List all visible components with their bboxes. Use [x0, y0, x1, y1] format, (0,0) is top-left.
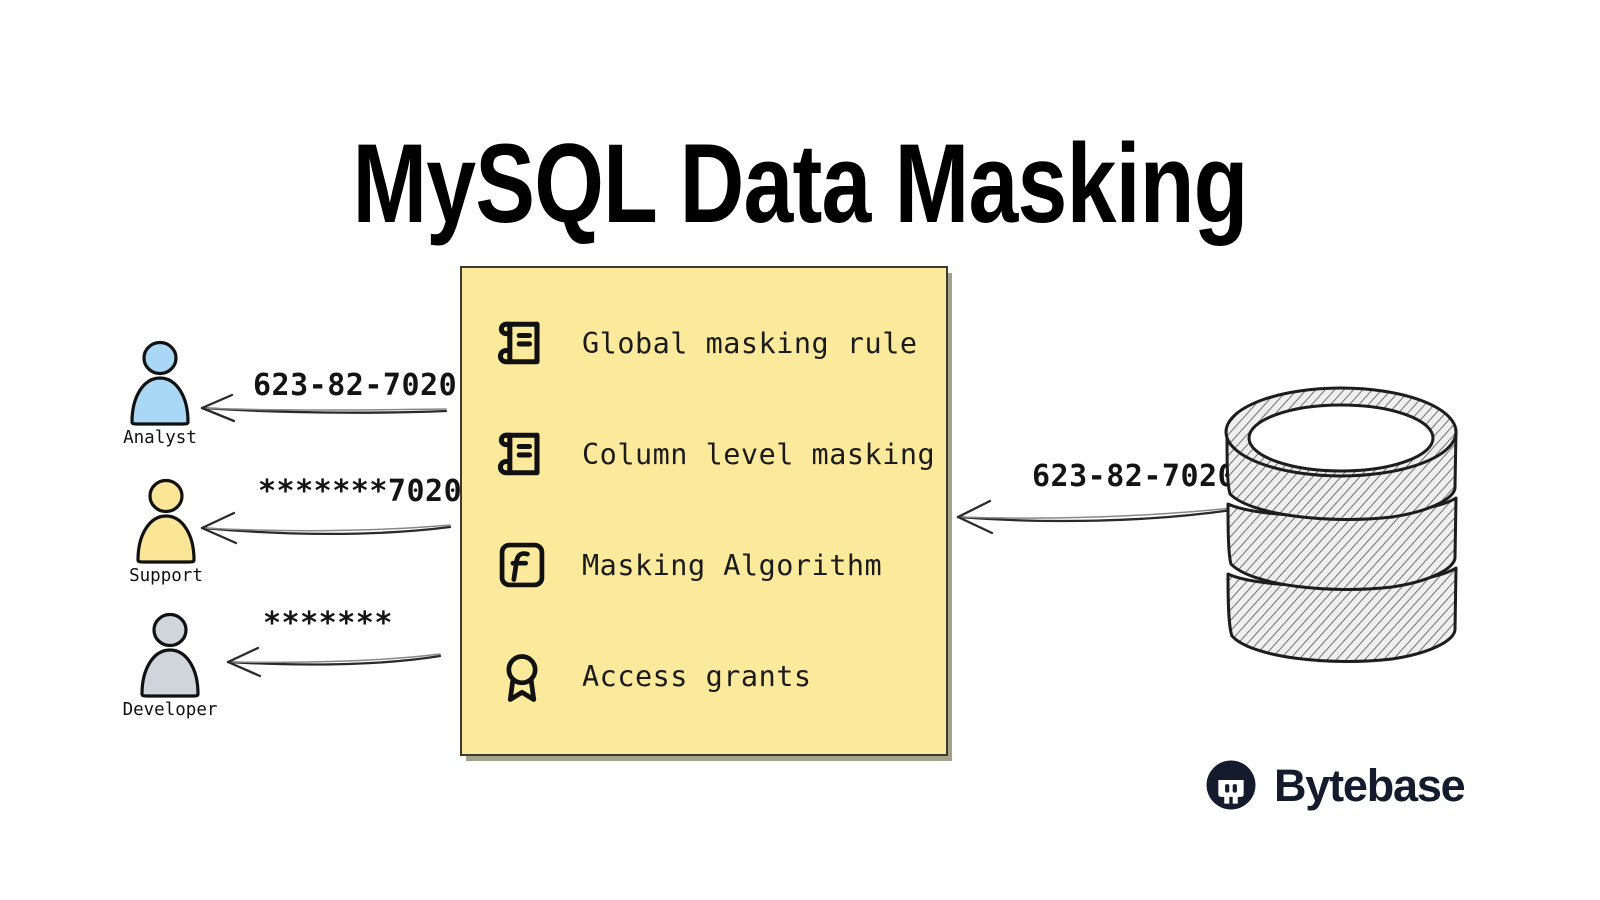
list-item-label: Masking Algorithm	[582, 549, 882, 582]
support-value: *******7020	[258, 474, 462, 509]
bytebase-logo-icon	[1204, 758, 1258, 812]
source-value: 623-82-7020	[1032, 459, 1236, 494]
arrow-left-icon	[218, 636, 444, 678]
list-item-label: Global masking rule	[582, 327, 918, 360]
scroll-icon	[490, 422, 554, 486]
list-item[interactable]: Access grants	[490, 633, 930, 719]
person-icon	[124, 340, 196, 426]
page-title: MySQL Data Masking	[160, 128, 1440, 240]
award-icon	[490, 644, 554, 708]
person-icon	[134, 612, 206, 698]
consumer-label: Support	[118, 566, 214, 586]
database-icon	[1222, 378, 1462, 668]
arrow-left-icon	[190, 385, 450, 427]
list-item[interactable]: Masking Algorithm	[490, 522, 930, 608]
masking-features-card: Global masking rule	[460, 266, 948, 756]
arrow-left-icon	[948, 492, 1234, 538]
diagram-canvas: MySQL Data Masking	[0, 0, 1600, 900]
scroll-icon	[490, 311, 554, 375]
list-item-label: Access grants	[582, 660, 812, 693]
list-item[interactable]: Column level masking	[490, 411, 930, 497]
bytebase-wordmark: Bytebase	[1274, 763, 1465, 808]
bytebase-logo[interactable]: Bytebase	[1204, 758, 1465, 812]
masking-features-list: Global masking rule	[490, 300, 930, 719]
consumer-label: Developer	[122, 700, 218, 720]
list-item[interactable]: Global masking rule	[490, 300, 930, 386]
list-item-label: Column level masking	[582, 438, 935, 471]
function-icon	[490, 533, 554, 597]
arrow-left-icon	[192, 505, 454, 547]
consumer-label: Analyst	[112, 428, 208, 448]
